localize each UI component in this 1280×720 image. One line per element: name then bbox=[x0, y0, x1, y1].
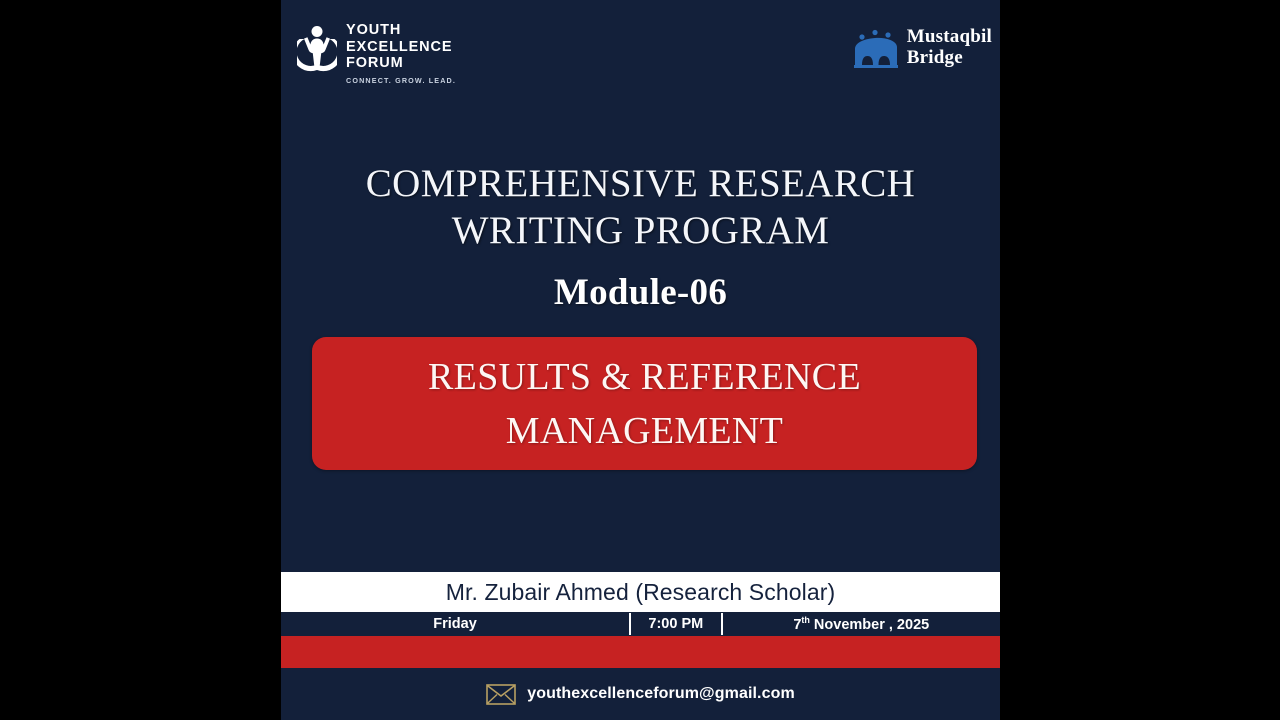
poster-stage: YOUTH EXCELLENCE FORUM CONNECT. GROW. LE… bbox=[0, 0, 1280, 720]
schedule-time: 7:00 PM bbox=[631, 616, 721, 632]
contact-email: youthexcellenceforum@gmail.com bbox=[527, 685, 795, 703]
red-divider-strip bbox=[281, 636, 1000, 668]
yef-wordmark: YOUTH EXCELLENCE FORUM CONNECT. GROW. LE… bbox=[346, 21, 456, 85]
mustaqbil-bridge-logo: Mustaqbil Bridge bbox=[853, 26, 992, 70]
mb-line-1: Mustaqbil bbox=[907, 26, 992, 47]
topic-text: RESULTS & REFERENCE MANAGEMENT bbox=[428, 350, 861, 458]
topic-banner: RESULTS & REFERENCE MANAGEMENT bbox=[312, 337, 977, 470]
schedule-date-rest: November , 2025 bbox=[810, 617, 929, 633]
speaker-name: Mr. Zubair Ahmed (Research Scholar) bbox=[446, 579, 836, 606]
mb-line-2: Bridge bbox=[907, 47, 992, 68]
envelope-icon bbox=[486, 684, 516, 705]
yef-tagline: CONNECT. GROW. LEAD. bbox=[346, 76, 456, 85]
module-label: Module-06 bbox=[281, 271, 1000, 314]
schedule-date: 7th November , 2025 bbox=[723, 615, 1000, 633]
program-title: COMPREHENSIVE RESEARCH WRITING PROGRAM bbox=[281, 160, 1000, 254]
yef-line-2: EXCELLENCE bbox=[346, 39, 456, 56]
poster-header: YOUTH EXCELLENCE FORUM CONNECT. GROW. LE… bbox=[281, 0, 1000, 100]
bridge-people-icon bbox=[853, 27, 899, 69]
contact-row: youthexcellenceforum@gmail.com bbox=[281, 668, 1000, 720]
person-in-crescent-icon bbox=[297, 23, 337, 73]
speaker-bar: Mr. Zubair Ahmed (Research Scholar) bbox=[281, 572, 1000, 612]
yef-line-3: FORUM bbox=[346, 55, 456, 72]
topic-line-1: RESULTS & REFERENCE bbox=[428, 356, 861, 398]
program-title-line-2: WRITING PROGRAM bbox=[281, 207, 1000, 254]
schedule-date-ordinal: th bbox=[801, 615, 810, 625]
poster-panel: YOUTH EXCELLENCE FORUM CONNECT. GROW. LE… bbox=[281, 0, 1000, 720]
mustaqbil-bridge-wordmark: Mustaqbil Bridge bbox=[907, 26, 992, 70]
program-title-line-1: COMPREHENSIVE RESEARCH bbox=[366, 162, 915, 205]
topic-line-2: MANAGEMENT bbox=[428, 404, 861, 458]
youth-excellence-forum-logo: YOUTH EXCELLENCE FORUM CONNECT. GROW. LE… bbox=[297, 21, 456, 85]
yef-line-1: YOUTH bbox=[346, 22, 456, 39]
schedule-row: Friday 7:00 PM 7th November , 2025 bbox=[281, 612, 1000, 636]
schedule-day: Friday bbox=[281, 616, 629, 632]
